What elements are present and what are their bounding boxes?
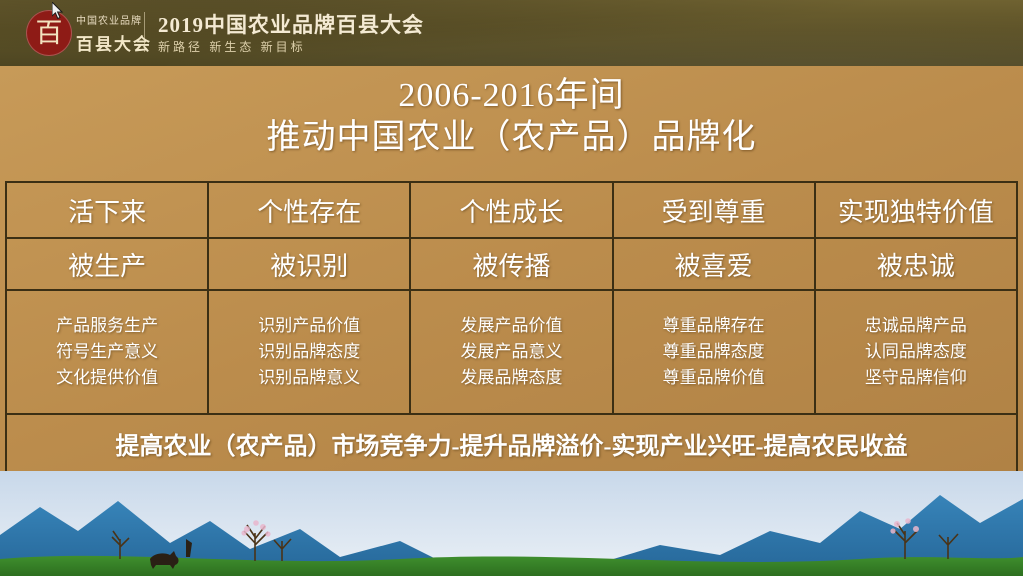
- detail-line: 符号生产意义: [56, 339, 158, 365]
- table-row-stage: 活下来 个性存在 个性成长 受到尊重 实现独特价值: [6, 182, 1017, 238]
- detail-line: 识别品牌态度: [258, 339, 360, 365]
- stage-cell-1: 活下来: [6, 182, 208, 238]
- stage-cell-2: 个性存在: [208, 182, 410, 238]
- mouse-cursor-icon: [52, 2, 64, 20]
- heading-line-1: 2006-2016年间: [0, 76, 1023, 116]
- detail-line: 识别产品价值: [258, 313, 360, 339]
- detail-line: 尊重品牌价值: [663, 365, 765, 391]
- stage-cell-4: 受到尊重: [613, 182, 815, 238]
- passive-cell-1: 被生产: [6, 238, 208, 290]
- detail-cell-5: 忠诚品牌产品 认同品牌态度 坚守品牌信仰: [815, 290, 1017, 414]
- logo-big-text: 百县大会: [76, 30, 152, 55]
- detail-cell-3: 发展产品价值 发展产品意义 发展品牌态度: [410, 290, 612, 414]
- detail-line: 发展产品价值: [460, 313, 562, 339]
- table-row-passive: 被生产 被识别 被传播 被喜爱 被忠诚: [6, 238, 1017, 290]
- footer-cell: 提高农业（农产品）市场竞争力-提升品牌溢价-实现产业兴旺-提高农民收益: [6, 414, 1017, 472]
- detail-line: 发展品牌态度: [460, 365, 562, 391]
- brand-stage-table: 活下来 个性存在 个性成长 受到尊重 实现独特价值 被生产 被识别 被传播 被喜…: [5, 181, 1018, 473]
- banner-texture: [0, 0, 1023, 66]
- table-row-footer: 提高农业（农产品）市场竞争力-提升品牌溢价-实现产业兴旺-提高农民收益: [6, 414, 1017, 472]
- stage-cell-5: 实现独特价值: [815, 182, 1017, 238]
- heading-line-2: 推动中国农业（农产品）品牌化: [0, 116, 1023, 160]
- detail-line: 发展产品意义: [460, 339, 562, 365]
- table-row-details: 产品服务生产 符号生产意义 文化提供价值 识别产品价值 识别品牌态度 识别品牌意…: [6, 290, 1017, 414]
- passive-cell-4: 被喜爱: [613, 238, 815, 290]
- slide-canvas: 2006-2016年间 推动中国农业（农产品）品牌化 活下来 个性存在 个性成长…: [0, 66, 1023, 576]
- logo-small-text: 中国农业品牌: [76, 12, 142, 27]
- presentation-banner: 百 中国农业品牌 百县大会 2019中国农业品牌百县大会 新路径 新生态 新目标: [0, 0, 1023, 66]
- banner-title: 2019中国农业品牌百县大会: [158, 9, 424, 39]
- detail-line: 识别品牌意义: [258, 365, 360, 391]
- logo-seal-icon: 百: [26, 10, 72, 56]
- detail-line: 认同品牌态度: [865, 339, 967, 365]
- passive-cell-2: 被识别: [208, 238, 410, 290]
- detail-line: 尊重品牌态度: [663, 339, 765, 365]
- detail-line: 坚守品牌信仰: [865, 365, 967, 391]
- detail-line: 文化提供价值: [56, 365, 158, 391]
- passive-cell-3: 被传播: [410, 238, 612, 290]
- banner-divider: [144, 12, 145, 52]
- slide-heading: 2006-2016年间 推动中国农业（农产品）品牌化: [0, 76, 1023, 160]
- passive-cell-5: 被忠诚: [815, 238, 1017, 290]
- detail-cell-2: 识别产品价值 识别品牌态度 识别品牌意义: [208, 290, 410, 414]
- slide-scenery: [0, 471, 1023, 576]
- detail-line: 产品服务生产: [56, 313, 158, 339]
- logo-seal-char: 百: [26, 14, 72, 52]
- stage-cell-3: 个性成长: [410, 182, 612, 238]
- detail-cell-1: 产品服务生产 符号生产意义 文化提供价值: [6, 290, 208, 414]
- detail-cell-4: 尊重品牌存在 尊重品牌态度 尊重品牌价值: [613, 290, 815, 414]
- detail-line: 尊重品牌存在: [663, 313, 765, 339]
- conference-logo: 百 中国农业品牌 百县大会: [26, 6, 138, 60]
- detail-line: 忠诚品牌产品: [865, 313, 967, 339]
- banner-subtitle: 新路径 新生态 新目标: [158, 38, 306, 55]
